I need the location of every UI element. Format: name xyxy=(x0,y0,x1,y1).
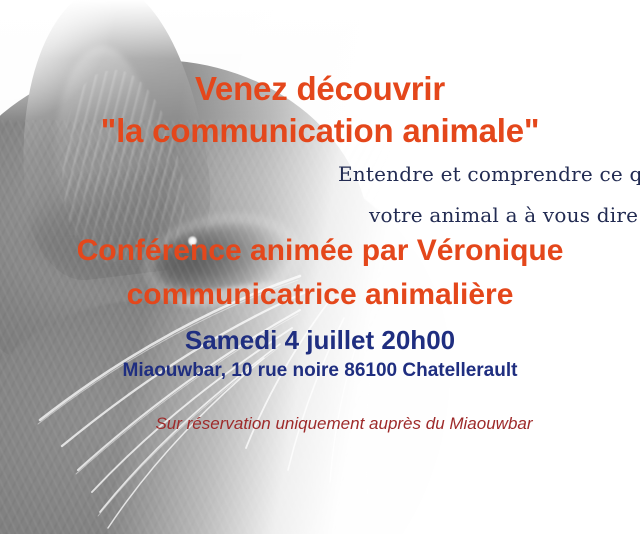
event-date: Samedi 4 juillet 20h00 xyxy=(0,325,640,356)
event-address: Miaouwbar, 10 rue noire 86100 Chatellera… xyxy=(0,360,640,382)
conference-line-2: communicatrice animalière xyxy=(0,278,640,312)
subtitle-line-1: Entendre et comprendre ce que xyxy=(338,162,640,186)
event-poster: Venez découvrir "la communication animal… xyxy=(0,0,640,534)
reservation-note: Sur réservation uniquement auprès du Mia… xyxy=(0,414,640,434)
headline-line-2: "la communication animale" xyxy=(0,112,640,150)
subtitle-line-2: votre animal a à vous dire xyxy=(369,203,638,227)
headline-line-1: Venez découvrir xyxy=(0,70,640,108)
conference-line-1: Conférence animée par Véronique xyxy=(0,234,640,268)
